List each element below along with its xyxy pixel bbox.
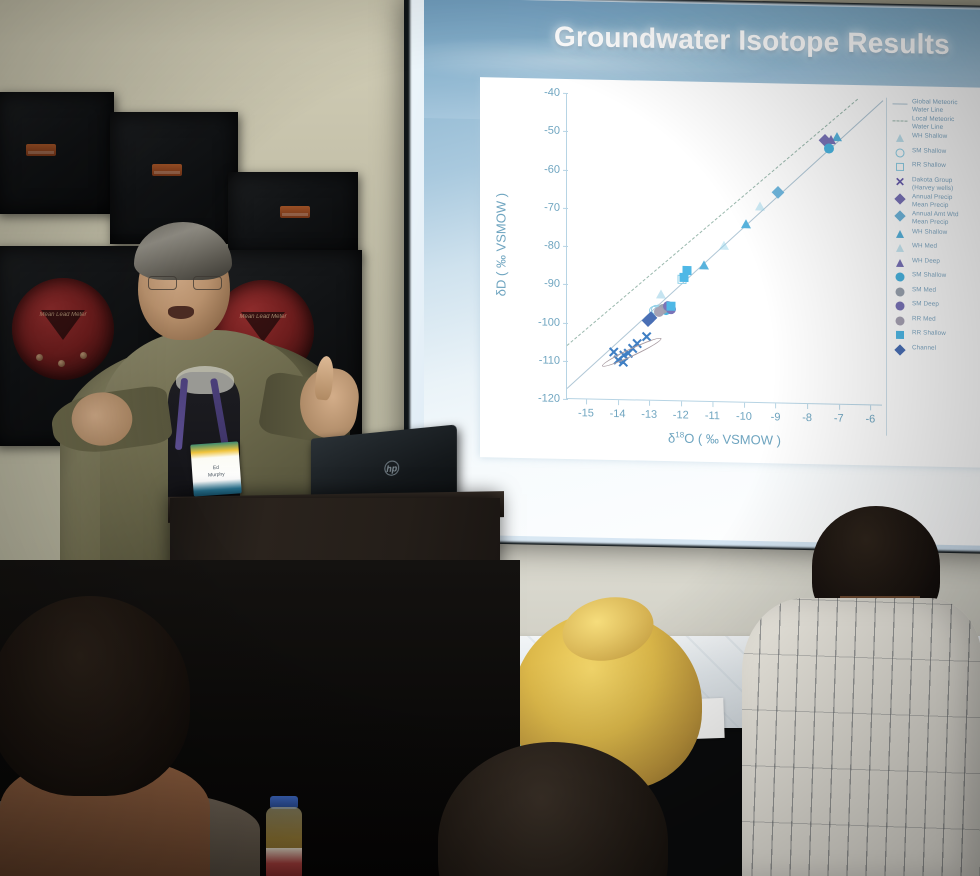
legend-symbol-icon <box>892 300 908 312</box>
projected-slide: Groundwater Isotope Results -40-50-60-70… <box>424 0 980 546</box>
amp-brand-text: Mean Lead Meter <box>239 314 286 320</box>
legend-symbol-icon <box>892 132 908 144</box>
y-axis-tick: -80 <box>544 240 560 252</box>
isotope-scatter-chart: -40-50-60-70-80-90-100-110-120-15-14-13-… <box>480 77 980 468</box>
legend-glyph <box>896 287 905 296</box>
legend-glyph <box>894 193 905 204</box>
legend-label: WH Med <box>912 242 937 250</box>
legend-entry: WH Shallow <box>892 132 980 147</box>
legend-label: Annual Amt WtdMean Precip <box>912 211 959 228</box>
legend-entry: RR Shallow <box>892 329 980 344</box>
legend-glyph <box>894 344 905 355</box>
legend-symbol-icon <box>892 329 908 341</box>
plot-area: -40-50-60-70-80-90-100-110-120-15-14-13-… <box>566 93 882 406</box>
legend-entry: Annual PrecipMean Precip <box>892 193 980 211</box>
y-axis-tick: -50 <box>544 125 560 137</box>
legend-entry: SM Shallow <box>892 147 980 162</box>
legend-entry: Local MeteoricWater Line <box>892 115 980 133</box>
bottle-label <box>266 848 302 876</box>
y-axis-tick: -60 <box>544 163 560 175</box>
speaker-logo-badge <box>152 164 182 176</box>
badge-first-name: Ed <box>213 465 220 471</box>
speaker-cabinet-top-right <box>228 172 358 258</box>
legend-glyph <box>894 211 905 222</box>
legend-label: SM Shallow <box>912 147 946 156</box>
legend-symbol-icon <box>892 210 908 222</box>
legend-glyph <box>896 148 905 157</box>
legend-symbol-icon <box>892 285 908 297</box>
data-point <box>755 201 765 210</box>
data-point <box>824 143 834 153</box>
legend-glyph <box>893 103 908 104</box>
legend-label: RR Shallow <box>912 162 946 171</box>
hp-logo-icon: hp <box>384 460 399 476</box>
striped-shirt <box>742 598 980 876</box>
legend-glyph <box>896 301 905 310</box>
y-axis-tick: -100 <box>538 316 560 328</box>
chart-canvas: -40-50-60-70-80-90-100-110-120-15-14-13-… <box>480 77 980 468</box>
y-axis-tick: -120 <box>538 392 560 404</box>
legend-symbol-icon <box>892 343 908 355</box>
amp-knob <box>58 360 65 367</box>
data-point <box>741 219 751 228</box>
legend-glyph <box>896 316 905 325</box>
legend-glyph <box>896 134 904 142</box>
legend-label: WH Deep <box>912 257 940 265</box>
legend-symbol-icon <box>892 271 908 283</box>
legend-label: SM Deep <box>912 300 939 308</box>
legend-glyph <box>896 163 904 171</box>
legend-entry: WH Deep <box>892 256 980 271</box>
legend-entry: RR Shallow <box>892 161 980 176</box>
legend-symbol-icon <box>892 98 908 110</box>
foreground-head-left <box>0 596 190 796</box>
x-axis-label: δ18O ( ‰ VSMOW ) <box>668 430 781 448</box>
x-axis-tick: -11 <box>705 410 720 422</box>
x-axis-tick: -10 <box>736 411 752 423</box>
data-point <box>683 266 692 275</box>
meteoric-water-line <box>567 99 858 346</box>
legend-symbol-icon <box>892 242 908 254</box>
legend-label: Global MeteoricWater Line <box>912 98 958 115</box>
data-point <box>719 241 729 250</box>
legend-label: Annual PrecipMean Precip <box>912 193 953 210</box>
amp-knob <box>36 354 43 361</box>
legend-glyph <box>893 121 908 122</box>
legend-entry: SM Shallow <box>892 271 980 286</box>
legend-label: Channel <box>912 344 936 352</box>
legend-symbol-icon <box>892 147 908 159</box>
legend-label: WH Shallow <box>912 133 947 142</box>
chart-legend: Global MeteoricWater LineLocal MeteoricW… <box>886 98 980 438</box>
legend-entry: WH Shallow <box>892 227 980 242</box>
legend-glyph: ✕ <box>895 175 905 189</box>
speaker-logo-badge <box>26 144 56 156</box>
legend-symbol-icon <box>892 161 908 173</box>
legend-symbol-icon <box>892 115 908 127</box>
drink-bottle <box>264 796 304 876</box>
legend-glyph <box>896 244 904 252</box>
legend-label: Local MeteoricWater Line <box>912 115 954 132</box>
presenter-mouth <box>168 306 194 319</box>
legend-glyph <box>896 331 904 339</box>
amp-speaker-cone-left: Mean Lead Meter <box>12 278 114 380</box>
amp-knob <box>80 352 87 359</box>
x-axis-tick: -6 <box>865 413 875 425</box>
name-badge: Ed Murphy <box>190 441 242 496</box>
name-badge-text: Ed Murphy <box>192 463 241 480</box>
legend-label: RR Med <box>912 315 936 323</box>
legend-entry: Global MeteoricWater Line <box>892 98 980 116</box>
y-axis-tick: -110 <box>539 354 560 366</box>
eyeglasses-icon <box>146 276 224 288</box>
y-axis-tick: -90 <box>544 278 560 290</box>
x-axis-tick: -12 <box>673 409 689 421</box>
x-axis-tick: -7 <box>834 413 844 425</box>
legend-entry: Annual Amt WtdMean Precip <box>892 210 980 228</box>
legend-glyph <box>896 258 904 266</box>
legend-glyph <box>896 229 904 237</box>
speaker-logo-badge <box>280 206 310 218</box>
legend-symbol-icon <box>892 256 908 268</box>
amp-brand-text: Mean Lead Meter <box>39 312 86 318</box>
legend-entry: ✕Dakota Group(Harvey wells) <box>892 176 980 194</box>
data-point <box>656 289 666 298</box>
legend-symbol-icon <box>892 314 908 326</box>
presentation-scene: Mean Lead Meter Mean Lead Meter Groundwa… <box>0 0 980 876</box>
x-axis-tick: -13 <box>641 409 657 421</box>
legend-symbol-icon: ✕ <box>892 176 908 188</box>
y-axis-tick: -40 <box>544 87 560 99</box>
data-point <box>666 302 675 311</box>
legend-entry: RR Med <box>892 314 980 329</box>
legend-symbol-icon <box>892 193 908 205</box>
y-axis-tick: -70 <box>544 201 560 213</box>
legend-symbol-icon <box>892 227 908 239</box>
legend-entry: Channel <box>892 343 980 358</box>
legend-label: WH Shallow <box>912 228 947 237</box>
legend-label: RR Shallow <box>912 329 946 338</box>
x-axis-tick: -14 <box>610 408 626 420</box>
legend-entry: WH Med <box>892 242 980 257</box>
legend-entry: SM Deep <box>892 300 980 315</box>
legend-label: Dakota Group(Harvey wells) <box>912 176 953 193</box>
data-point <box>772 186 785 199</box>
x-axis-tick: -15 <box>578 407 594 419</box>
legend-label: SM Med <box>912 286 936 294</box>
badge-last-name: Murphy <box>208 471 225 478</box>
speaker-cabinet-top-left <box>0 92 114 214</box>
legend-glyph <box>896 272 905 281</box>
x-axis-tick: -8 <box>802 412 812 424</box>
legend-entry: SM Med <box>892 285 980 300</box>
y-axis-label: δD ( ‰ VSMOW ) <box>494 192 509 296</box>
data-point <box>699 260 709 269</box>
legend-label: SM Shallow <box>912 271 946 280</box>
x-axis-tick: -9 <box>771 411 781 423</box>
